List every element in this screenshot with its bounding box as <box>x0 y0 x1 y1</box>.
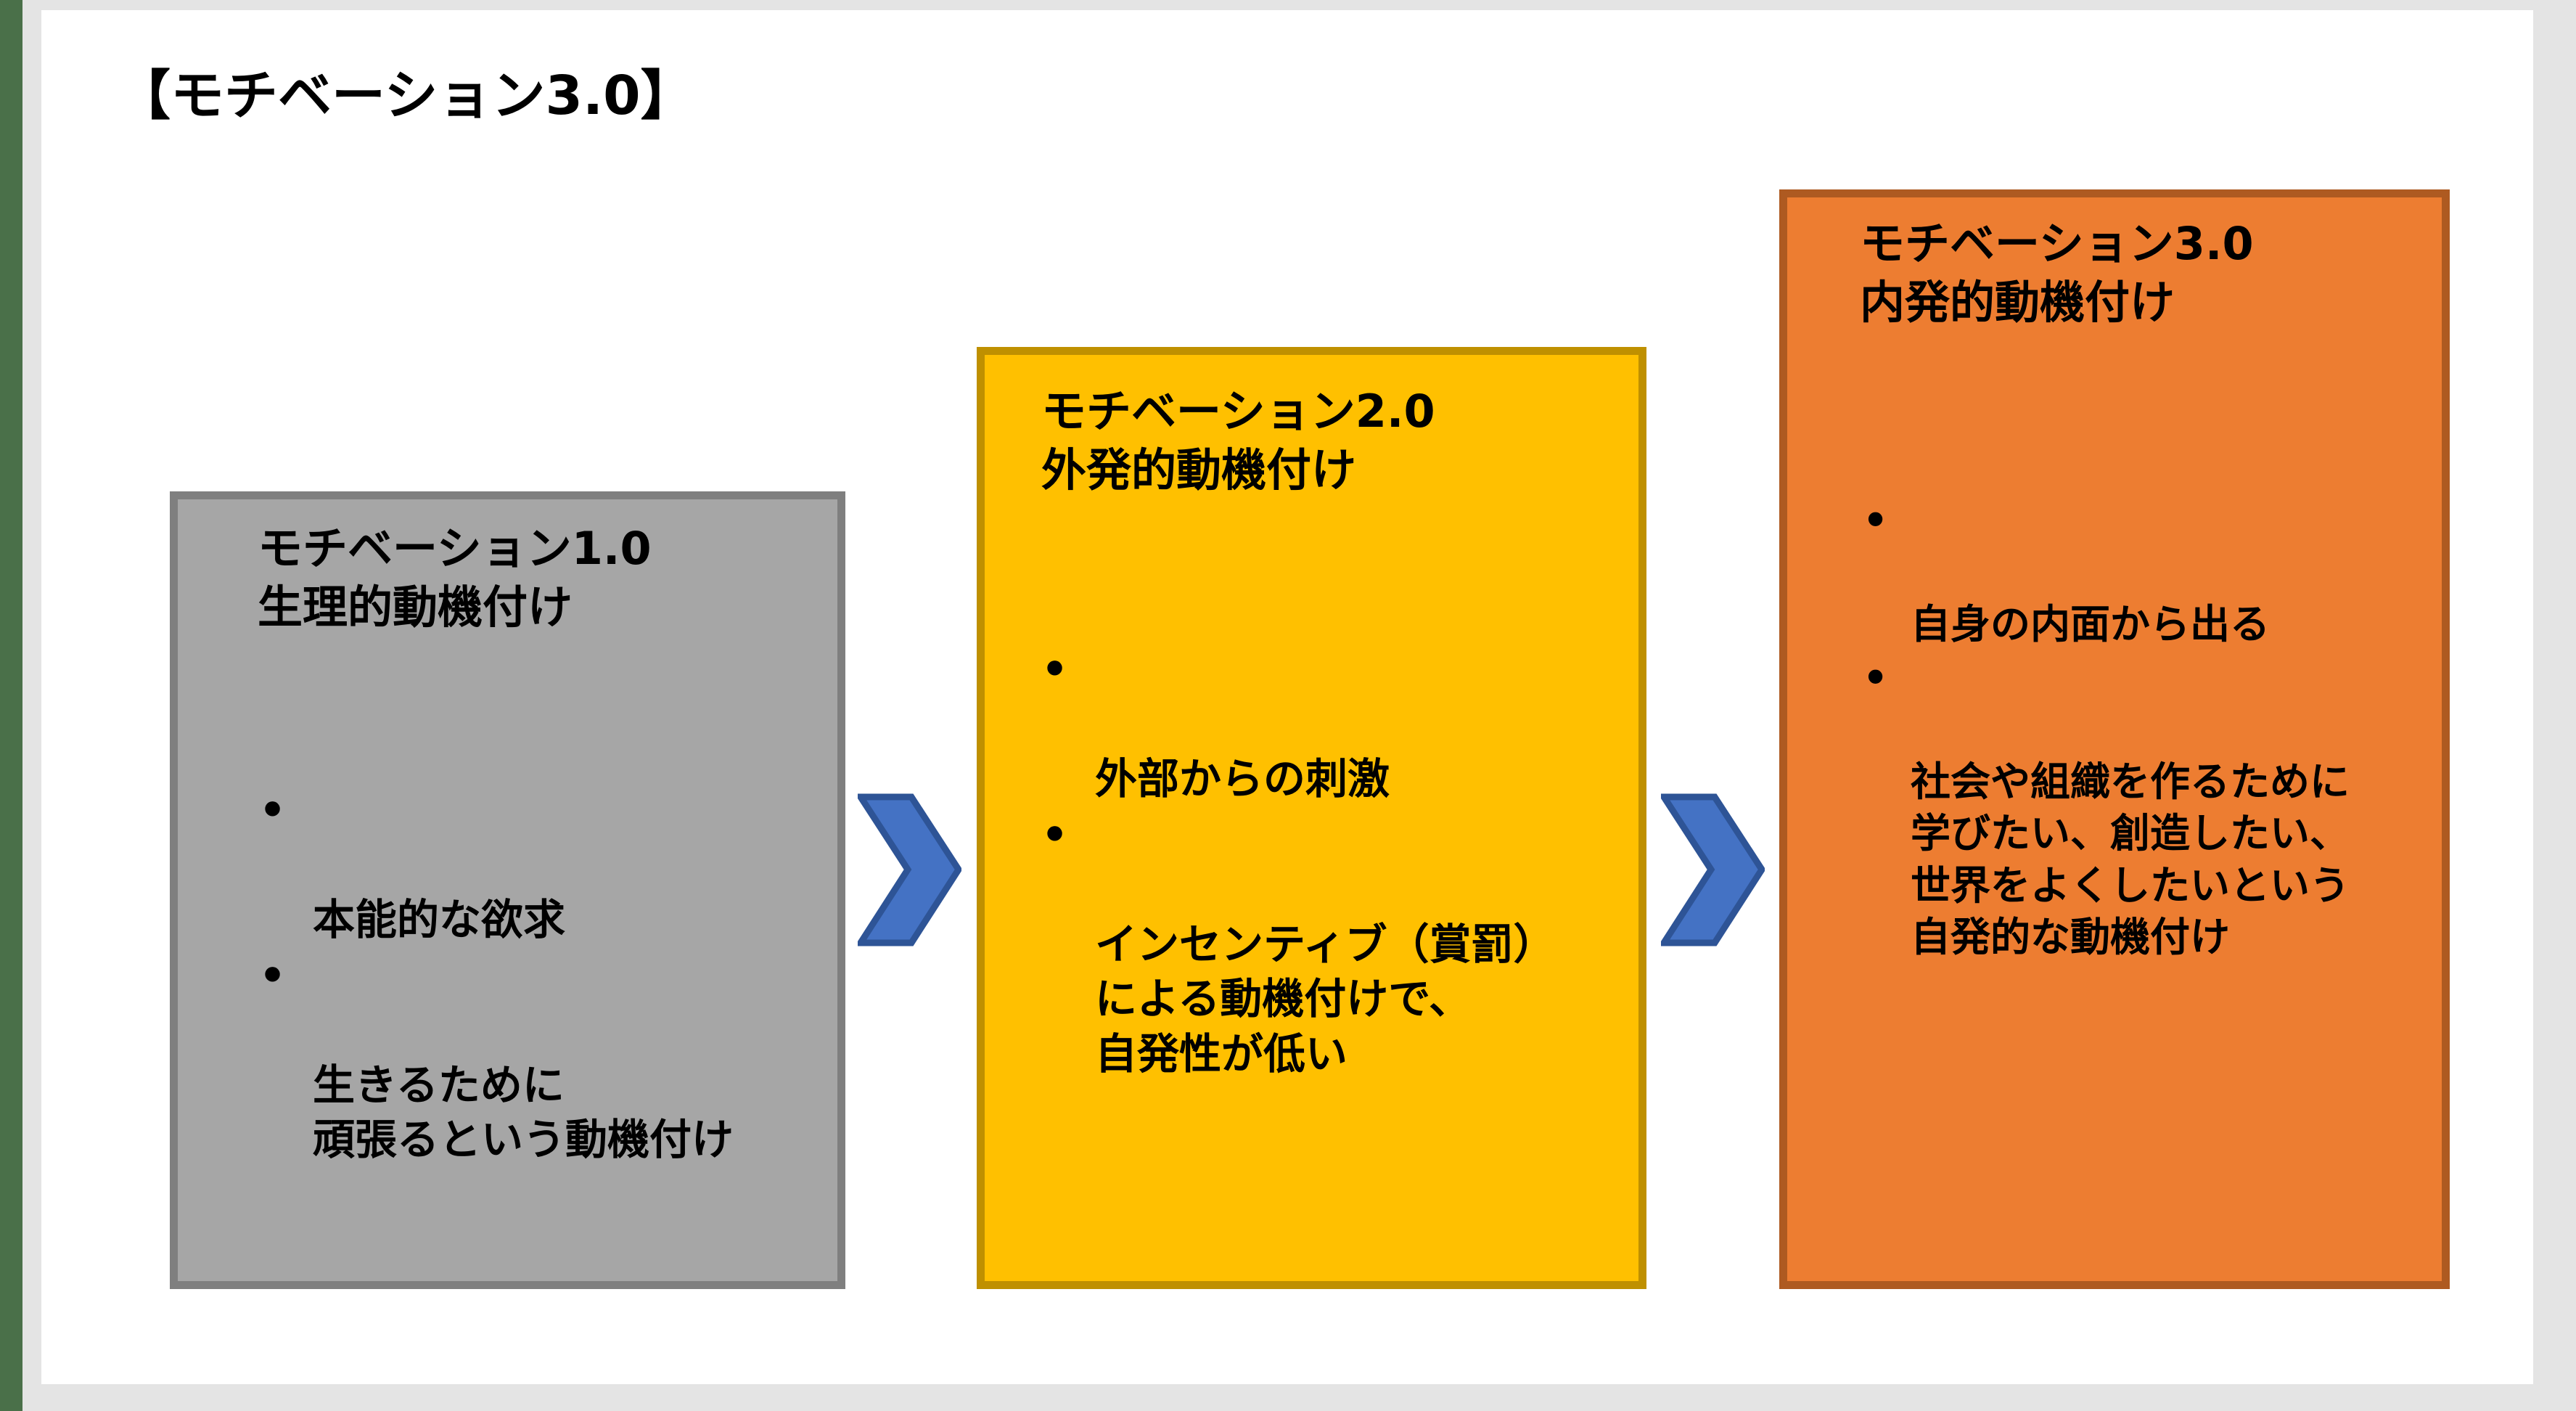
left-accent-bar <box>0 0 22 1411</box>
bullet-text: インセンティブ（賞罰） による動機付けで、 自発性が低い <box>1095 920 1556 1079</box>
stage-box-motivation-1[interactable]: モチベーション1.0 生理的動機付け • 本能的な欲求 • 生きるために 頑張る… <box>170 491 845 1289</box>
bullet-dot-icon: • <box>1041 808 1068 862</box>
bullet-text: 外部からの刺激 <box>1095 754 1390 803</box>
stage-heading-2: モチベーション2.0 外発的動機付け <box>1041 383 1638 499</box>
bullet-dot-icon: • <box>259 783 286 838</box>
stage-box-motivation-2[interactable]: モチベーション2.0 外発的動機付け • 外部からの刺激 • インセンティブ（賞… <box>977 347 1646 1289</box>
list-item: • 本能的な欲求 <box>313 783 837 947</box>
list-item: • 社会や組織を作るために 学びたい、創造したい、 世界をよくしたいという 自発… <box>1911 653 2442 964</box>
stage-bullet-list-1: • 本能的な欲求 • 生きるために 頑張るという動機付け <box>313 783 837 1169</box>
bullet-text: 本能的な欲求 <box>313 895 565 944</box>
bullet-text: 自身の内面から出る <box>1911 601 2270 647</box>
chevron-right-icon <box>858 793 961 947</box>
bullet-dot-icon: • <box>1863 653 1888 705</box>
page-title: 【モチベーション3.0】 <box>117 67 694 126</box>
stage-bullet-list-2: • 外部からの刺激 • インセンティブ（賞罰） による動機付けで、 自発性が低い <box>1095 642 1638 1083</box>
list-item: • 外部からの刺激 <box>1095 642 1638 806</box>
stage-heading-3: モチベーション3.0 内発的動機付け <box>1860 215 2442 332</box>
bullet-dot-icon: • <box>1041 642 1068 697</box>
list-item: • 生きるために 頑張るという動機付け <box>313 949 837 1168</box>
stage-heading-1: モチベーション1.0 生理的動機付け <box>258 520 837 637</box>
list-item: • インセンティブ（賞罰） による動機付けで、 自発性が低い <box>1095 808 1638 1081</box>
bullet-dot-icon: • <box>259 949 286 1003</box>
stage-box-motivation-3[interactable]: モチベーション3.0 内発的動機付け • 自身の内面から出る • 社会や組織を作… <box>1779 189 2450 1289</box>
chevron-right-icon <box>1661 793 1765 947</box>
list-item: • 自身の内面から出る <box>1911 495 2442 651</box>
bullet-text: 生きるために 頑張るという動機付け <box>313 1060 734 1164</box>
stage-bullet-list-3: • 自身の内面から出る • 社会や組織を作るために 学びたい、創造したい、 世界… <box>1911 495 2442 965</box>
slide-root: 【モチベーション3.0】 モチベーション1.0 生理的動機付け • 本能的な欲求… <box>0 0 2576 1411</box>
slide-canvas: 【モチベーション3.0】 モチベーション1.0 生理的動機付け • 本能的な欲求… <box>41 10 2533 1384</box>
bullet-dot-icon: • <box>1863 495 1888 547</box>
bullet-text: 社会や組織を作るために 学びたい、創造したい、 世界をよくしたいという 自発的な… <box>1911 758 2350 961</box>
